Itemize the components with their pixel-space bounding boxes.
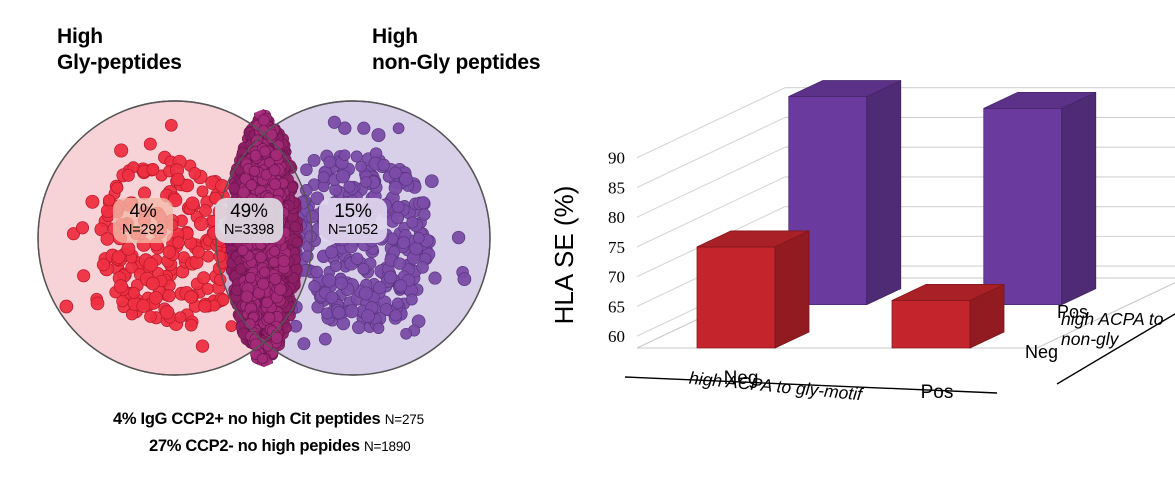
caption-2-text: 27% CCP2- no high pepides	[149, 437, 360, 455]
hla-se-3d-bar-chart: HLA SE (%) 60657075808590 NegPosNegPos h…	[545, 0, 1175, 479]
chart-graphic: HLA SE (%) 60657075808590 NegPosNegPos h…	[545, 0, 1175, 479]
venn-count-overlap: N=3398	[224, 223, 274, 238]
caption-2-count: N=1890	[364, 439, 410, 454]
chart-z-axis-title-line1: high ACPA to	[1061, 309, 1164, 329]
caption-1-text: 4% IgG CCP2+ no high Cit peptides	[113, 410, 380, 428]
chart-y-tick: 60	[608, 327, 625, 346]
caption-line-2: 27% CCP2- no high pepides N=1890	[149, 437, 410, 456]
chart-z-axis-title-line2: non-gly	[1061, 329, 1120, 349]
venn-count-gly-only: N=292	[122, 223, 164, 238]
chart-bar-pos-neg	[892, 284, 1004, 348]
chart-depth-category-neg: Neg	[1025, 342, 1058, 362]
venn-heading-left: High Gly-peptides	[57, 24, 182, 76]
venn-circles-graphic	[0, 90, 560, 390]
venn-percent-nongly-only: 15%	[328, 202, 378, 222]
caption-line-1: 4% IgG CCP2+ no high Cit peptides N=275	[113, 410, 424, 429]
chart-y-tick: 90	[608, 149, 625, 168]
venn-label-overlap: 49% N=3398	[215, 198, 283, 243]
chart-y-tick: 85	[608, 178, 625, 197]
caption-1-count: N=275	[385, 412, 424, 427]
chart-x-axis-title: high ACPA to gly-motif	[688, 368, 865, 405]
venn-label-nongly-only: 15% N=1052	[319, 198, 387, 243]
chart-y-axis-title: HLA SE (%)	[549, 186, 579, 325]
chart-bar-neg-neg	[697, 231, 809, 348]
chart-y-tick: 70	[608, 268, 625, 287]
chart-y-tick: 65	[608, 297, 625, 316]
venn-label-gly-only: 4% N=292	[113, 198, 173, 243]
venn-diagram-panel: High Gly-peptides High non-Gly peptides	[0, 0, 560, 479]
chart-y-tick: 75	[608, 238, 625, 257]
chart-x-category-pos: Pos	[921, 382, 954, 403]
chart-y-tick-labels: 60657075808590	[608, 149, 625, 346]
chart-y-tick: 80	[608, 208, 625, 227]
chart-bar-pos-pos	[984, 92, 1096, 304]
venn-percent-gly-only: 4%	[122, 202, 164, 222]
venn-percent-overlap: 49%	[224, 202, 274, 222]
venn-count-nongly-only: N=1052	[328, 223, 378, 238]
venn-heading-right: High non-Gly peptides	[372, 24, 540, 76]
